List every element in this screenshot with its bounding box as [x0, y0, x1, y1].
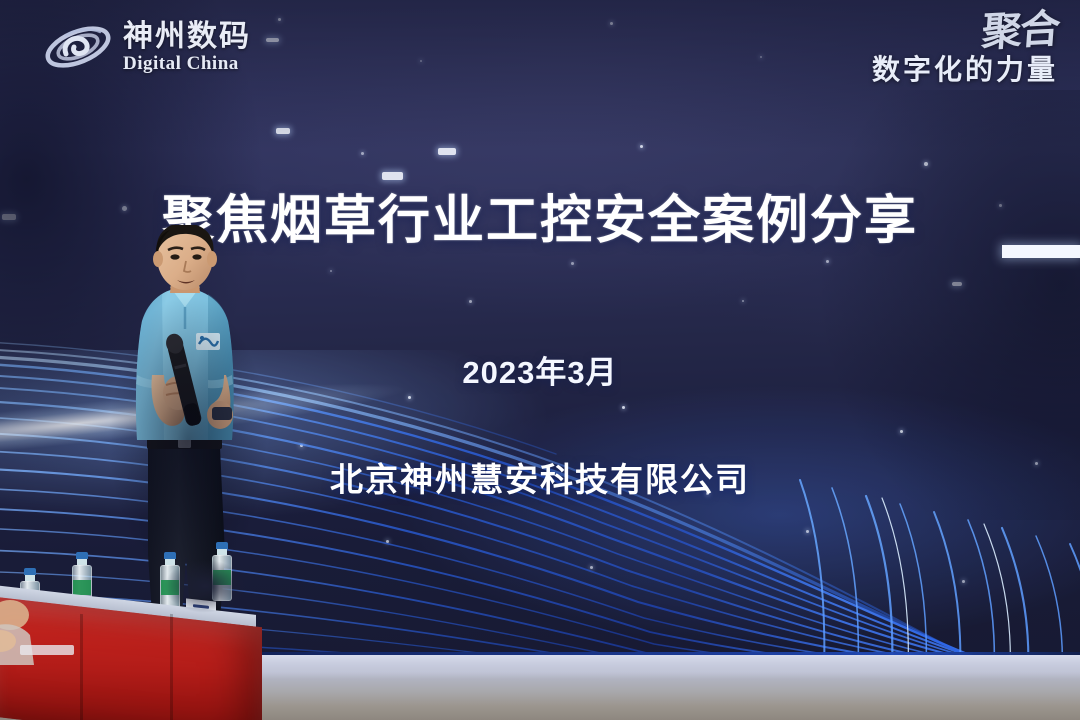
event-logo: 聚合 数字化的力量 [872, 12, 1058, 88]
logo-chinese-name: 神州数码 [123, 22, 251, 52]
background-attendee-silhouette [160, 555, 250, 615]
digital-china-logo: 神州数码 Digital China [42, 18, 251, 76]
table-skirt-fold [80, 614, 83, 720]
digital-china-swirl-icon [42, 18, 114, 76]
table-skirt-fold [170, 614, 173, 720]
event-calligraphy: 聚合 [980, 10, 1059, 52]
logo-english-name: Digital China [123, 54, 251, 73]
conference-photo: 神州数码 Digital China 聚合 数字化的力量 聚焦烟草行业工控安全案… [0, 0, 1080, 720]
seated-attendee [0, 595, 74, 665]
event-tagline: 数字化的力量 [872, 48, 1058, 88]
